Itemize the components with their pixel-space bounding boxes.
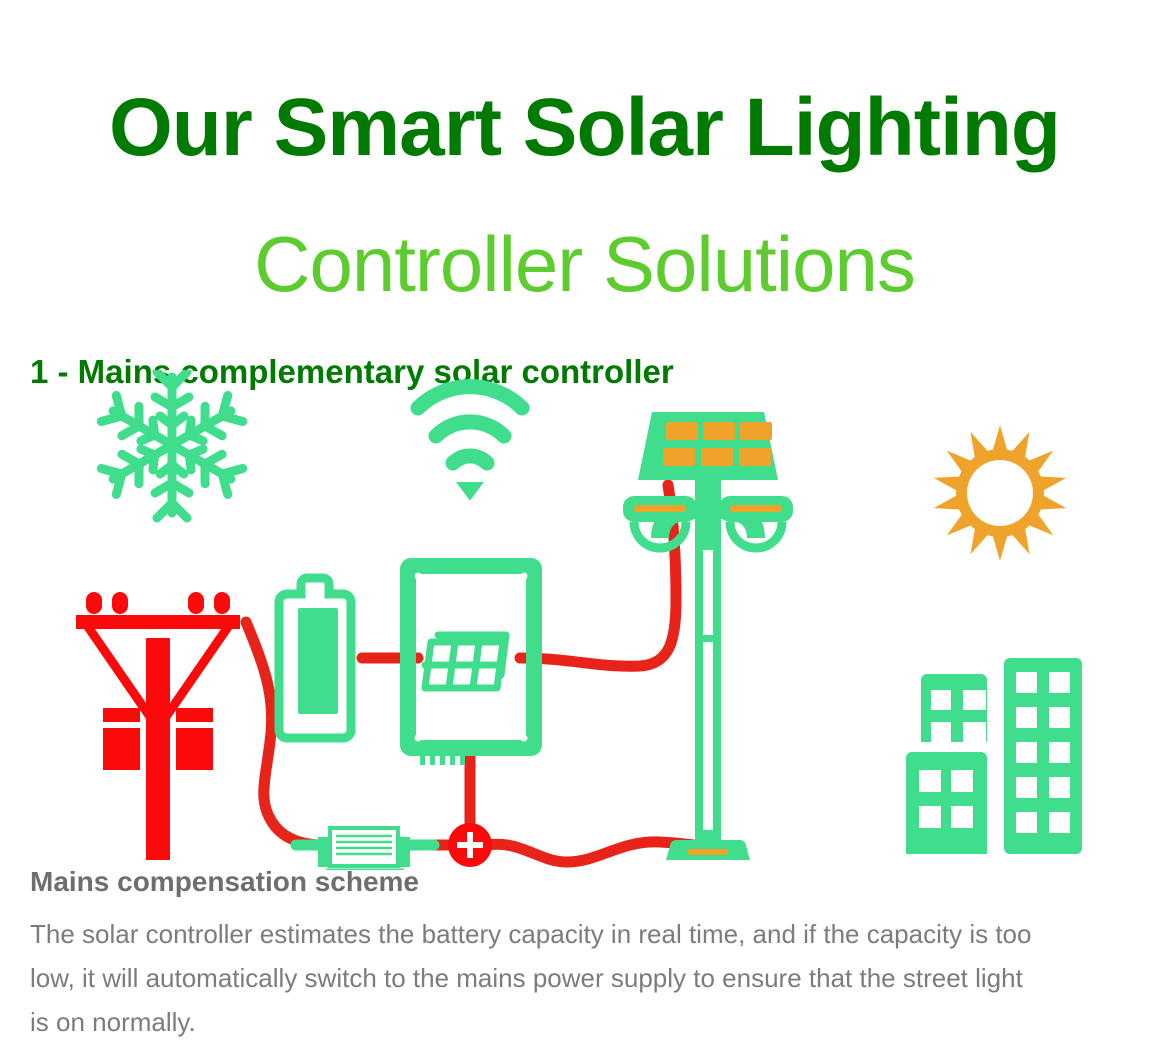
caption-title: Mains compensation scheme: [30, 866, 419, 898]
building-tall: [1004, 658, 1082, 854]
street-light-solar-panel: [638, 412, 778, 480]
junction-node: [448, 823, 492, 867]
battery-icon: [279, 578, 351, 738]
building-upper: [921, 674, 987, 742]
battery-level-fill: [298, 608, 338, 714]
controller-screw: [521, 573, 528, 580]
controller-screw: [521, 735, 528, 742]
controller-box: [408, 560, 534, 765]
pole-insulator: [112, 592, 128, 614]
pole-shaft: [146, 638, 170, 860]
street-light-icon: [623, 412, 793, 860]
caption-body: The solar controller estimates the batte…: [30, 912, 1040, 1044]
transformer-module: [318, 828, 410, 870]
pole-transformer: [103, 728, 140, 770]
page-title-line-2: Controller Solutions: [0, 225, 1169, 303]
sun-icon: [932, 425, 1068, 561]
page-title-line-1: Our Smart Solar Lighting: [0, 87, 1169, 169]
poster-page: Our Smart Solar Lighting Controller Solu…: [0, 0, 1169, 1039]
controller-screw: [415, 735, 422, 742]
pole-insulator: [188, 592, 204, 614]
buildings-icon: [906, 658, 1082, 854]
solar-panel-icon: [425, 635, 506, 688]
pole-insulator: [86, 592, 102, 614]
street-light-lamp-left: [623, 496, 697, 548]
controller-screw: [415, 573, 422, 580]
utility-pole-icon: [76, 592, 240, 860]
wifi-icon: [418, 387, 522, 494]
wiring-diagram: [0, 370, 1169, 870]
building-lower: [906, 752, 987, 854]
snowflake-icon: [100, 372, 243, 518]
street-light-lamp-right: [719, 496, 793, 548]
pole-transformer: [103, 708, 140, 722]
pole-insulator: [214, 592, 230, 614]
pole-transformer: [176, 708, 213, 722]
pole-crossarm: [76, 615, 240, 629]
pole-transformer: [176, 728, 213, 770]
street-light-base-stripe: [688, 849, 728, 855]
